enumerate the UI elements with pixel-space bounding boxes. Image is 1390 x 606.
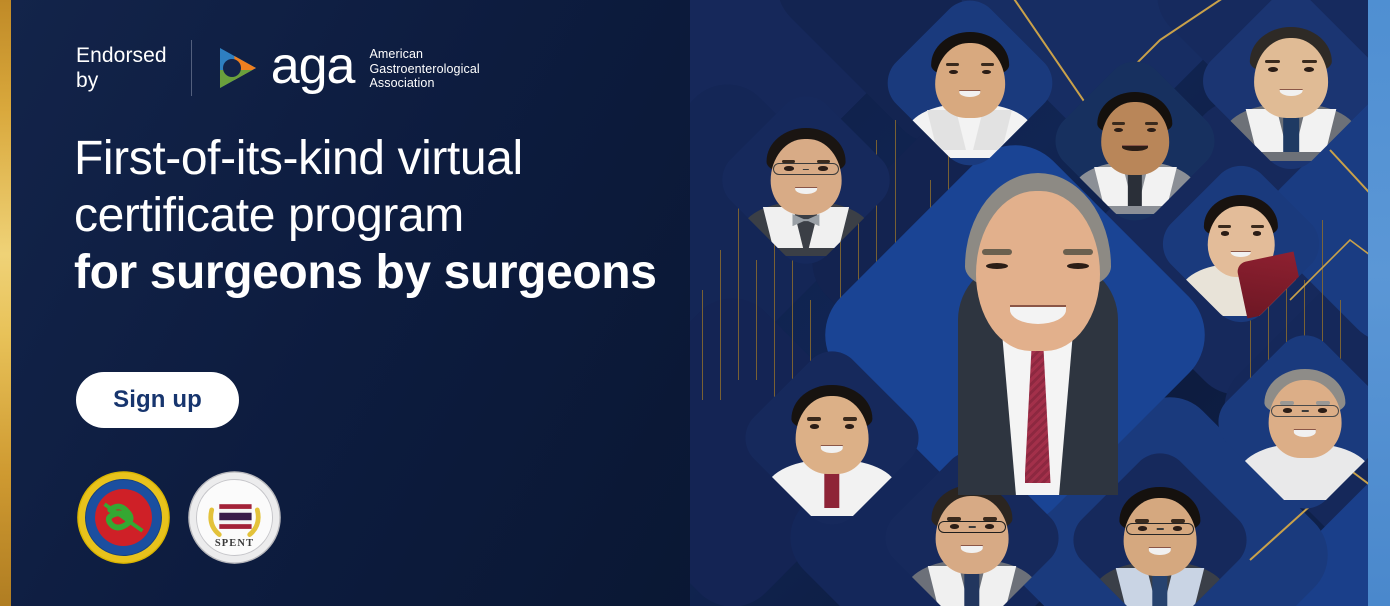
spent-logo: SPENT: [187, 470, 282, 565]
endorsed-by-label: Endorsed by: [76, 43, 191, 93]
headline: First-of-its-kind virtual certificate pr…: [74, 130, 684, 301]
aga-full-name: American Gastroenterological Association: [363, 45, 479, 91]
svg-text:SPENT: SPENT: [215, 538, 254, 549]
portrait-5: [1177, 180, 1305, 308]
promo-banner: Endorsed by aga American Gastroenterolog…: [0, 0, 1390, 606]
headline-line-1: First-of-its-kind virtual: [74, 130, 684, 187]
right-blue-edge-stripe: [1368, 0, 1390, 606]
surgeon-portrait-collage: [690, 0, 1390, 606]
portrait-6: [762, 368, 902, 508]
association-of-general-surgeons-of-thailand-logo: [76, 470, 171, 565]
headline-line-2: certificate program: [74, 187, 684, 244]
organization-logos: SPENT: [76, 470, 282, 565]
aga-triangle-icon: [214, 44, 262, 92]
portrait-1: [903, 16, 1037, 150]
headline-line-3: for surgeons by surgeons: [74, 244, 684, 301]
portrait-4: [1220, 10, 1362, 152]
sign-up-button[interactable]: Sign up: [76, 372, 239, 428]
content-panel: Endorsed by aga American Gastroenterolog…: [0, 0, 700, 606]
aga-wordmark: aga: [271, 40, 355, 92]
left-gold-edge-stripe: [0, 0, 11, 606]
endorsement-row: Endorsed by aga American Gastroenterolog…: [76, 40, 480, 96]
vertical-divider: [191, 40, 192, 96]
aga-logo: aga American Gastroenterological Associa…: [192, 44, 480, 92]
featured-surgeon-portrait: [930, 165, 1145, 495]
portrait-2: [738, 112, 874, 248]
portrait-9: [1235, 352, 1375, 492]
